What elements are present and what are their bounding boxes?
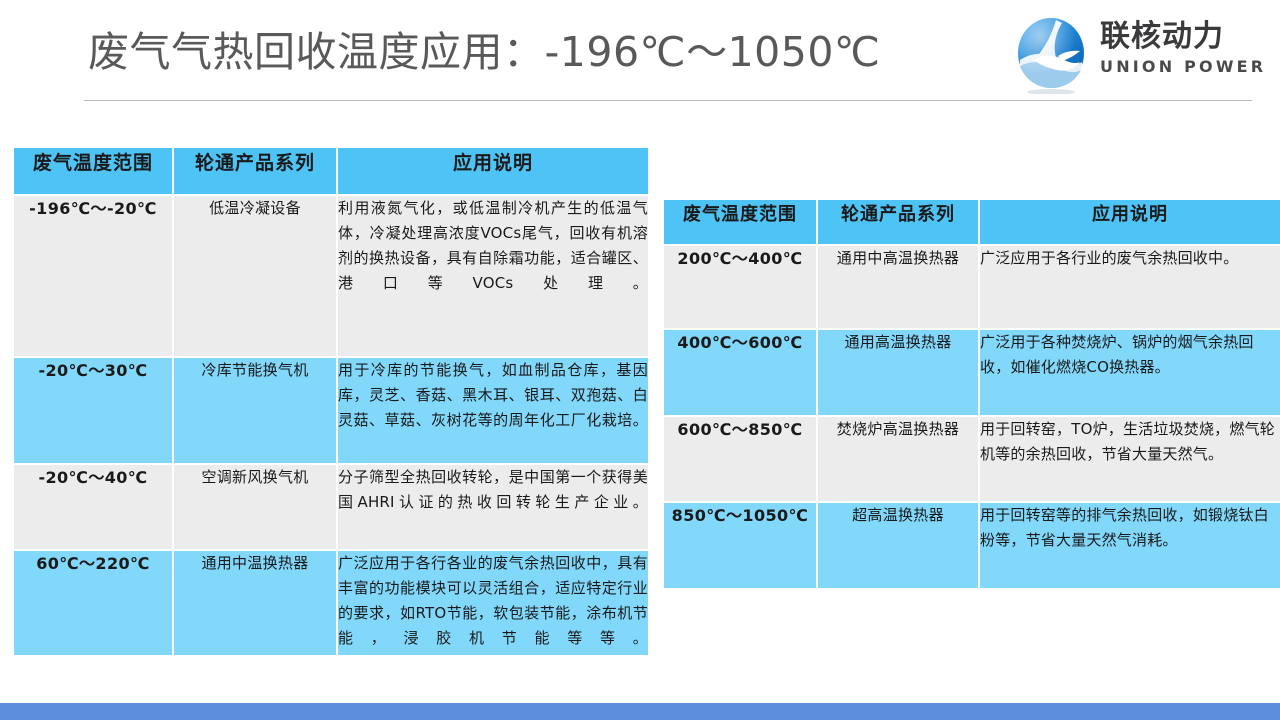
table-row: 200℃～400℃ 通用中高温换热器 广泛应用于各行业的废气余热回收中。 bbox=[664, 246, 1280, 328]
table-row: 60℃～220℃ 通用中温换热器 广泛应用于各行各业的废气余热回收中，具有丰富的… bbox=[14, 551, 648, 655]
cell-temperature-range: 850℃～1050℃ bbox=[664, 503, 816, 588]
cell-application-desc: 分子筛型全热回收转轮，是中国第一个获得美国AHRI认证的热收回转轮生产企业。 bbox=[338, 465, 648, 549]
column-header-series: 轮通产品系列 bbox=[818, 200, 978, 244]
cell-application-desc: 广泛应用于各行各业的废气余热回收中，具有丰富的功能模块可以灵活组合，适应特定行业… bbox=[338, 551, 648, 655]
table-row: -20℃～40℃ 空调新风换气机 分子筛型全热回收转轮，是中国第一个获得美国AH… bbox=[14, 465, 648, 549]
cell-temperature-range: -20℃～30℃ bbox=[14, 358, 172, 463]
slide-header: 废气气热回收温度应用：-196℃～1050℃ bbox=[0, 0, 1280, 104]
column-header-series: 轮通产品系列 bbox=[174, 148, 336, 194]
cell-temperature-range: 600℃～850℃ bbox=[664, 417, 816, 501]
footer-accent-bar bbox=[0, 703, 1280, 720]
column-header-desc: 应用说明 bbox=[338, 148, 648, 194]
cell-product-series: 通用中温换热器 bbox=[174, 551, 336, 655]
cell-product-series: 焚烧炉高温换热器 bbox=[818, 417, 978, 501]
cell-product-series: 冷库节能换气机 bbox=[174, 358, 336, 463]
column-header-range: 废气温度范围 bbox=[664, 200, 816, 244]
table-row: 400℃～600℃ 通用高温换热器 广泛用于各种焚烧炉、锅炉的烟气余热回收，如催… bbox=[664, 330, 1280, 415]
brand-wordmark: 联核动力 UNION POWER bbox=[1100, 20, 1260, 76]
cell-product-series: 空调新风换气机 bbox=[174, 465, 336, 549]
cell-temperature-range: 200℃～400℃ bbox=[664, 246, 816, 328]
table-row: -196℃～-20℃ 低温冷凝设备 利用液氮气化，或低温制冷机产生的低温气体，冷… bbox=[14, 196, 648, 356]
brand-name-en: UNION POWER bbox=[1100, 58, 1260, 76]
table-row: 850℃～1050℃ 超高温换热器 用于回转窑等的排气余热回收，如锻烧钛白粉等，… bbox=[664, 503, 1280, 588]
cell-product-series: 通用高温换热器 bbox=[818, 330, 978, 415]
table-row: 600℃～850℃ 焚烧炉高温换热器 用于回转窑，TO炉，生活垃圾焚烧，燃气轮机… bbox=[664, 417, 1280, 501]
cell-application-desc: 用于回转窑，TO炉，生活垃圾焚烧，燃气轮机等的余热回收，节省大量天然气。 bbox=[980, 417, 1280, 501]
cell-temperature-range: 400℃～600℃ bbox=[664, 330, 816, 415]
cell-temperature-range: -196℃～-20℃ bbox=[14, 196, 172, 356]
cell-application-desc: 利用液氮气化，或低温制冷机产生的低温气体，冷凝处理高浓度VOCs尾气，回收有机溶… bbox=[338, 196, 648, 356]
table-row: -20℃～30℃ 冷库节能换气机 用于冷库的节能换气，如血制品仓库，基因库，灵芝… bbox=[14, 358, 648, 463]
brand-name-cn: 联核动力 bbox=[1100, 20, 1260, 54]
cell-product-series: 超高温换热器 bbox=[818, 503, 978, 588]
cell-application-desc: 用于回转窑等的排气余热回收，如锻烧钛白粉等，节省大量天然气消耗。 bbox=[980, 503, 1280, 588]
cell-application-desc: 广泛应用于各行业的废气余热回收中。 bbox=[980, 246, 1280, 328]
union-power-globe-logo-icon bbox=[1012, 16, 1090, 94]
table-header-row: 废气温度范围 轮通产品系列 应用说明 bbox=[14, 148, 648, 194]
brand-logo: 联核动力 UNION POWER bbox=[1012, 14, 1260, 94]
column-header-range: 废气温度范围 bbox=[14, 148, 172, 194]
cell-product-series: 低温冷凝设备 bbox=[174, 196, 336, 356]
cell-temperature-range: -20℃～40℃ bbox=[14, 465, 172, 549]
column-header-desc: 应用说明 bbox=[980, 200, 1280, 244]
cell-product-series: 通用中高温换热器 bbox=[818, 246, 978, 328]
table-header-row: 废气温度范围 轮通产品系列 应用说明 bbox=[664, 200, 1280, 244]
header-divider bbox=[84, 100, 1252, 101]
cell-application-desc: 广泛用于各种焚烧炉、锅炉的烟气余热回收，如催化燃烧CO换热器。 bbox=[980, 330, 1280, 415]
page-title: 废气气热回收温度应用：-196℃～1050℃ bbox=[88, 26, 880, 78]
temperature-application-table-right: 废气温度范围 轮通产品系列 应用说明 200℃～400℃ 通用中高温换热器 广泛… bbox=[662, 198, 1280, 590]
cell-application-desc: 用于冷库的节能换气，如血制品仓库，基因库，灵芝、香菇、黑木耳、银耳、双孢菇、白灵… bbox=[338, 358, 648, 463]
temperature-application-table-left: 废气温度范围 轮通产品系列 应用说明 -196℃～-20℃ 低温冷凝设备 利用液… bbox=[12, 146, 650, 657]
cell-temperature-range: 60℃～220℃ bbox=[14, 551, 172, 655]
